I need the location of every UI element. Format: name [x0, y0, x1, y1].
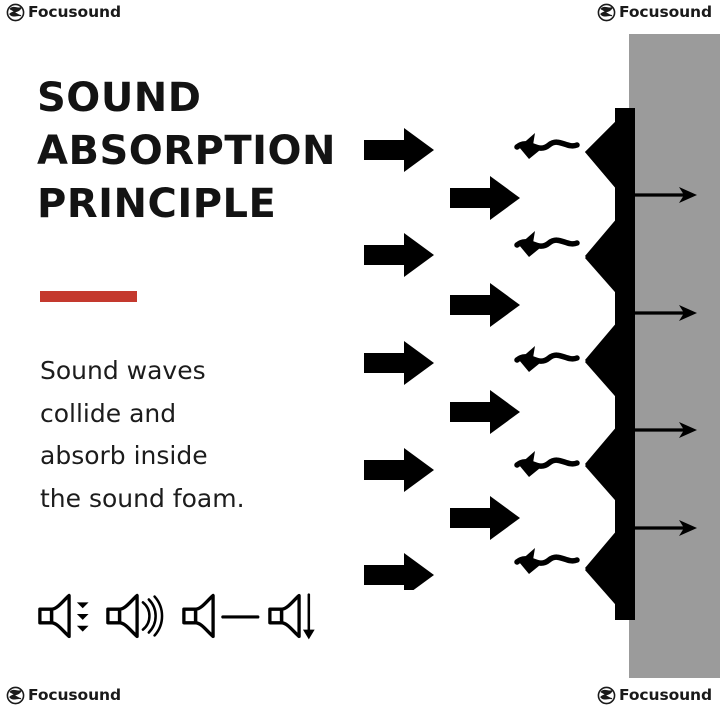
brand-name: Focusound	[619, 5, 712, 21]
speaker-low-volume-icon	[36, 590, 104, 642]
brand-name: Focusound	[28, 688, 121, 704]
brand-logo-top-right: Focusound	[597, 3, 712, 22]
brand-logo-bottom-right: Focusound	[597, 686, 712, 705]
focusound-circle-s-icon	[6, 3, 25, 22]
speaker-barrier-icon	[266, 590, 326, 642]
speaker-sound-waves-icon	[104, 590, 180, 642]
focusound-circle-s-icon	[597, 686, 616, 705]
brand-logo-bottom-left: Focusound	[6, 686, 121, 705]
accent-divider	[40, 291, 137, 302]
speaker-icon-row	[36, 588, 326, 644]
brand-name: Focusound	[28, 5, 121, 21]
brand-logo-top-left: Focusound	[6, 3, 121, 22]
speaker-line-icon	[180, 590, 266, 642]
page-title: SOUND ABSORPTION PRINCIPLE	[37, 72, 367, 230]
transmitted-sound-arrows	[629, 160, 720, 560]
body-paragraph: Sound waves collide and absorb inside th…	[40, 350, 255, 520]
focusound-circle-s-icon	[597, 3, 616, 22]
infographic-canvas: SOUND ABSORPTION PRINCIPLE Sound waves c…	[0, 0, 720, 711]
brand-name: Focusound	[619, 688, 712, 704]
headline-line-3: PRINCIPLE	[37, 178, 367, 231]
headline-line-1: SOUND	[37, 72, 367, 125]
reflected-sound-squiggle-arrows	[495, 115, 585, 585]
headline-line-2: ABSORPTION	[37, 125, 367, 178]
focusound-circle-s-icon	[6, 686, 25, 705]
